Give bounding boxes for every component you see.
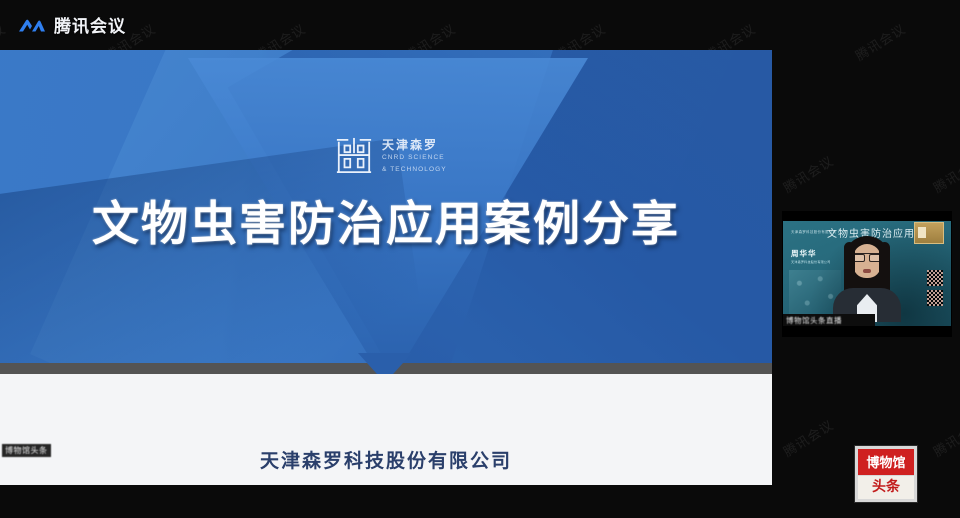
slide-logo-english-line1: CNRD SCIENCE <box>382 154 447 163</box>
avatar-glasses <box>853 253 881 260</box>
slide-title: 文物虫害防治应用案例分享 <box>0 198 772 251</box>
tencent-meeting-mountain-icon <box>18 16 46 33</box>
video-caption-bar: 博物馆头条直播 <box>783 314 875 326</box>
video-participant-name: 周华华 <box>791 248 817 259</box>
participant-video-tile[interactable]: 天津森罗科技股份有限公司 文物虫害防治应用案例 周华华 天津森罗科技股份有限公司… <box>783 212 951 336</box>
channel-logo-bottom-text: 头条 <box>872 481 900 495</box>
slide-company-logo: 天津森罗 CNRD SCIENCE & TECHNOLOGY <box>335 136 447 176</box>
shared-slide: 天津森罗 CNRD SCIENCE & TECHNOLOGY 文物虫害防治应用案… <box>0 50 772 485</box>
slide-corner-watermark: 博物馆头条 <box>2 444 51 457</box>
channel-logo: 博物馆 头条 <box>855 446 917 502</box>
slide-logo-wordmark: 天津森罗 CNRD SCIENCE & TECHNOLOGY <box>382 137 447 175</box>
gold-award-badge-icon <box>914 222 944 244</box>
participant-avatar <box>831 230 903 322</box>
gold-badge-inner <box>918 227 926 238</box>
slide-logo-english-line2: & TECHNOLOGY <box>382 166 447 175</box>
video-caption-text: 博物馆头条直播 <box>786 315 842 326</box>
avatar-mouth <box>863 269 871 273</box>
video-bottom-letterbox <box>783 326 951 336</box>
qr-code-icon <box>927 270 943 286</box>
channel-logo-top-text: 博物馆 <box>866 456 905 469</box>
meeting-screen-share-window: 腾讯会议腾讯会议腾讯会议腾讯会议腾讯会议腾讯会议腾讯会议腾讯会议腾讯会议腾讯会议… <box>0 0 960 518</box>
slide-presenter-name: 周华华 <box>0 480 772 485</box>
channel-logo-top: 博物馆 <box>858 449 914 475</box>
channel-logo-bottom: 头条 <box>858 476 914 499</box>
app-brand-label: 腾讯会议 <box>54 12 126 37</box>
cnrd-seal-logo-icon <box>335 136 373 176</box>
slide-logo-chinese: 天津森罗 <box>382 139 447 151</box>
app-brand: 腾讯会议 <box>18 12 126 37</box>
video-top-letterbox <box>783 212 951 221</box>
qr-code-icon <box>927 290 943 306</box>
slide-company-name: 天津森罗科技股份有限公司 <box>0 446 772 473</box>
